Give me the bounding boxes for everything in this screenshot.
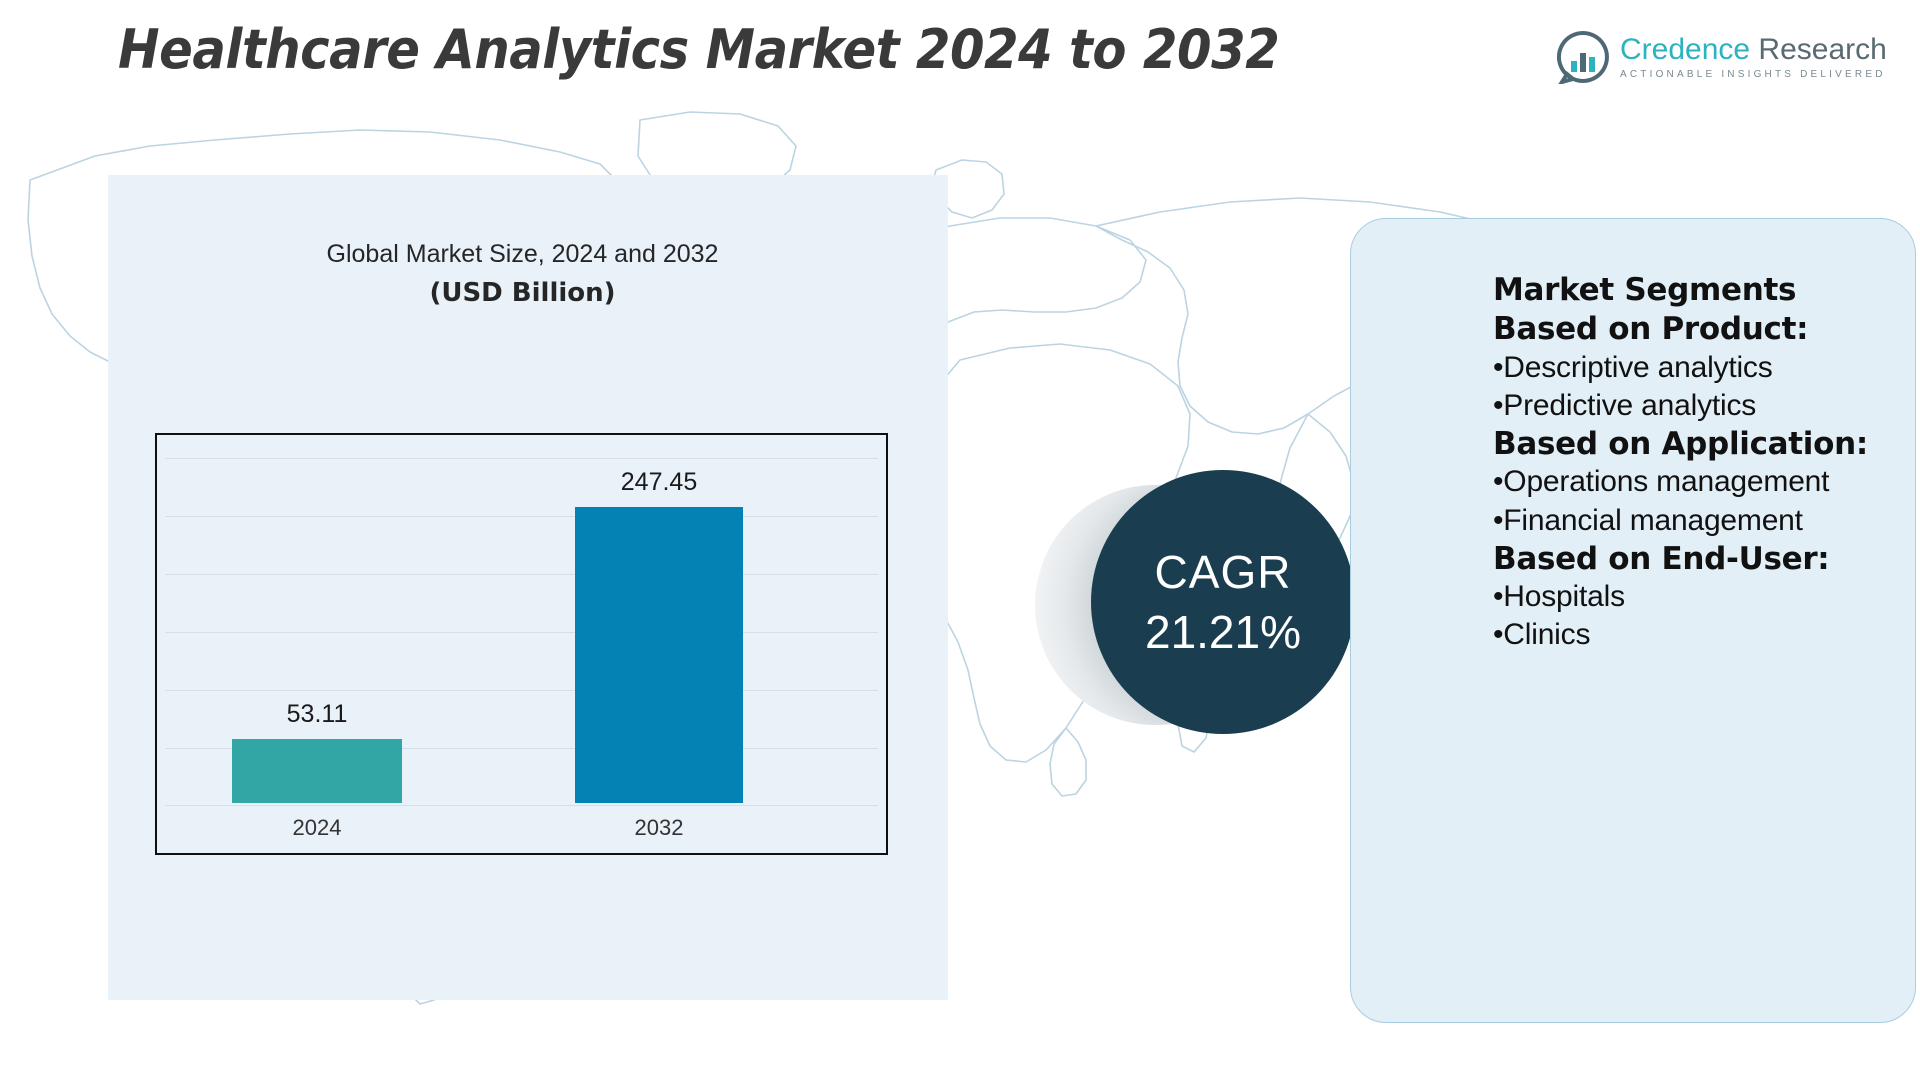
bar-value-2024: 53.11	[232, 700, 402, 729]
segment-item-operations-management: •Operations management	[1493, 463, 1905, 501]
bar-2024	[232, 739, 402, 803]
segments-heading-end-user: Based on End-User:	[1493, 540, 1905, 579]
chart-gridline	[165, 458, 878, 459]
category-label-2024: 2024	[232, 815, 402, 841]
bar-2032	[575, 507, 743, 803]
segment-item-financial-management: •Financial management	[1493, 502, 1905, 540]
chart-axis-baseline	[165, 805, 878, 806]
logo-wordmark: Credence Research ACTIONABLE INSIGHTS DE…	[1620, 35, 1887, 80]
market-segments-panel: Market Segments Based on Product: •Descr…	[1350, 218, 1916, 1023]
logo-tagline: ACTIONABLE INSIGHTS DELIVERED	[1620, 70, 1887, 80]
chart-caption-line2: (USD Billion)	[155, 278, 890, 308]
brand-logo: Credence Research ACTIONABLE INSIGHTS DE…	[1556, 30, 1887, 84]
segment-item-descriptive-analytics: •Descriptive analytics	[1493, 349, 1905, 387]
segment-item-hospitals: •Hospitals	[1493, 578, 1905, 616]
bar-chart-circle-icon	[1556, 30, 1610, 84]
chart-gridline	[165, 574, 878, 575]
page-title: Healthcare Analytics Market 2024 to 2032	[118, 18, 1279, 81]
cagr-badge: CAGR 21.21%	[1030, 440, 1360, 760]
cagr-value: 21.21%	[1145, 605, 1301, 659]
chart-caption: Global Market Size, 2024 and 2032 (USD B…	[155, 240, 890, 308]
logo-name-part2: Research	[1758, 33, 1886, 66]
cagr-circle: CAGR 21.21%	[1091, 470, 1355, 734]
chart-gridline	[165, 516, 878, 517]
bar-value-2032: 247.45	[575, 468, 743, 497]
segment-item-clinics: •Clinics	[1493, 616, 1905, 654]
segments-heading-application: Based on Application:	[1493, 425, 1905, 464]
logo-name: Credence Research	[1620, 35, 1887, 65]
chart-gridline	[165, 632, 878, 633]
chart-gridline	[165, 690, 878, 691]
segment-item-predictive-analytics: •Predictive analytics	[1493, 387, 1905, 425]
bar-chart: 53.11 247.45 2024 2032	[155, 433, 888, 855]
cagr-label: CAGR	[1155, 545, 1292, 599]
segments-title: Market Segments	[1493, 271, 1905, 310]
segments-heading-product: Based on Product:	[1493, 310, 1905, 349]
chart-caption-line1: Global Market Size, 2024 and 2032	[155, 240, 890, 269]
category-label-2032: 2032	[575, 815, 743, 841]
logo-name-part1: Credence	[1620, 33, 1750, 66]
market-segments-list: Market Segments Based on Product: •Descr…	[1493, 271, 1905, 655]
infographic-canvas: Healthcare Analytics Market 2024 to 2032…	[0, 0, 1920, 1080]
